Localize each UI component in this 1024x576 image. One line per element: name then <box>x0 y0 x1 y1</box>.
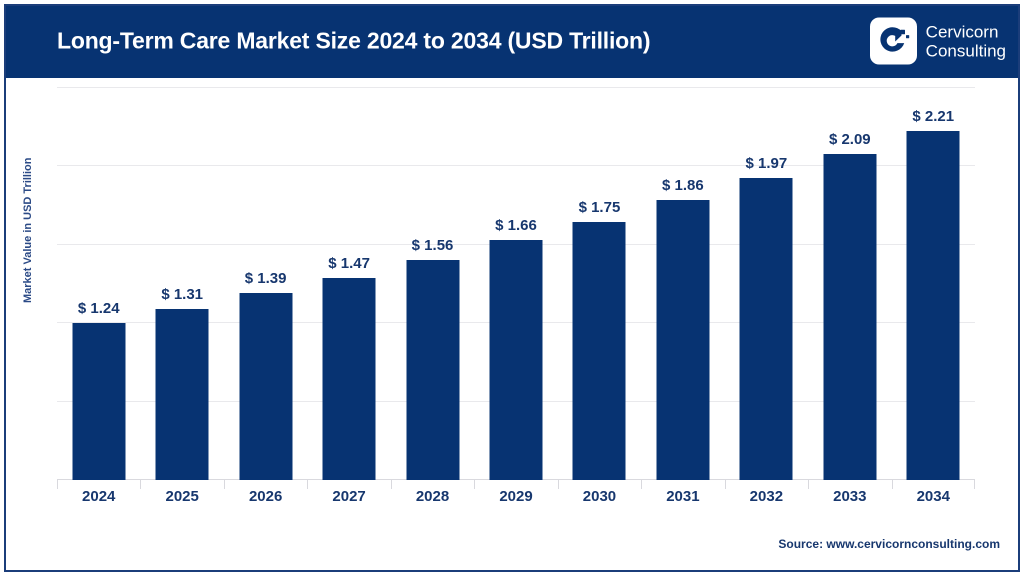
bar-value-label: $ 1.97 <box>745 155 787 172</box>
bar-value-label: $ 1.39 <box>245 270 287 287</box>
x-axis-label: 2028 <box>416 488 449 505</box>
x-axis-label: 2027 <box>332 488 365 505</box>
bar[interactable] <box>156 309 209 480</box>
bar[interactable] <box>323 278 376 480</box>
bar-group[interactable]: $ 1.24 <box>57 87 140 480</box>
bar-value-label: $ 1.75 <box>579 199 621 216</box>
bar-group[interactable]: $ 1.86 <box>641 87 724 480</box>
bar-value-label: $ 1.66 <box>495 217 537 234</box>
page-title: Long-Term Care Market Size 2024 to 2034 … <box>57 28 650 55</box>
x-axis-label: 2029 <box>499 488 532 505</box>
x-axis-label: 2032 <box>750 488 783 505</box>
bar-value-label: $ 1.86 <box>662 177 704 194</box>
x-axis-label: 2030 <box>583 488 616 505</box>
bar-value-label: $ 1.47 <box>328 255 370 272</box>
bar[interactable] <box>656 200 709 480</box>
brand-name-line1: Cervicorn <box>926 22 1006 41</box>
bar-group[interactable]: $ 1.56 <box>391 87 474 480</box>
x-axis-label: 2026 <box>249 488 282 505</box>
bar[interactable] <box>72 323 125 480</box>
x-axis-labels: 2024202520262027202820292030203120322033… <box>57 488 975 514</box>
bar-group[interactable]: $ 2.09 <box>808 87 891 480</box>
brand-name-line2: Consulting <box>926 41 1006 60</box>
x-axis-label: 2034 <box>917 488 950 505</box>
bar-value-label: $ 1.31 <box>161 286 203 303</box>
brand-name: Cervicorn Consulting <box>926 22 1006 60</box>
bar-group[interactable]: $ 2.21 <box>892 87 975 480</box>
x-axis-label: 2031 <box>666 488 699 505</box>
brand-logo: Cervicorn Consulting <box>870 18 1006 65</box>
y-axis-title: Market Value in USD Trillion <box>22 158 34 303</box>
bar-group[interactable]: $ 1.31 <box>140 87 223 480</box>
bar-value-label: $ 2.09 <box>829 131 871 148</box>
chart-container: Market Value in USD Trillion $ 1.24$ 1.3… <box>6 78 1018 570</box>
bar[interactable] <box>239 293 292 480</box>
bar-group[interactable]: $ 1.39 <box>224 87 307 480</box>
bar[interactable] <box>573 222 626 480</box>
bar-value-label: $ 2.21 <box>912 108 954 125</box>
bar-group[interactable]: $ 1.66 <box>474 87 557 480</box>
x-axis-label: 2025 <box>165 488 198 505</box>
bar-group[interactable]: $ 1.97 <box>725 87 808 480</box>
cervicorn-logo-icon <box>870 18 917 65</box>
chart-infographic: Long-Term Care Market Size 2024 to 2034 … <box>0 0 1024 576</box>
bar-value-label: $ 1.24 <box>78 300 120 317</box>
bar[interactable] <box>823 154 876 480</box>
bar[interactable] <box>740 178 793 480</box>
source-note: Source: www.cervicornconsulting.com <box>778 537 1000 551</box>
bar-group[interactable]: $ 1.47 <box>307 87 390 480</box>
x-axis-label: 2024 <box>82 488 115 505</box>
plot-area: $ 1.24$ 1.31$ 1.39$ 1.47$ 1.56$ 1.66$ 1.… <box>57 87 975 480</box>
bar[interactable] <box>907 131 960 480</box>
x-axis-label: 2033 <box>833 488 866 505</box>
bar-value-label: $ 1.56 <box>412 237 454 254</box>
bar-group[interactable]: $ 1.75 <box>558 87 641 480</box>
bar[interactable] <box>489 240 542 480</box>
header-bar: Long-Term Care Market Size 2024 to 2034 … <box>4 4 1020 78</box>
bar-series: $ 1.24$ 1.31$ 1.39$ 1.47$ 1.56$ 1.66$ 1.… <box>57 87 975 480</box>
bar[interactable] <box>406 260 459 480</box>
